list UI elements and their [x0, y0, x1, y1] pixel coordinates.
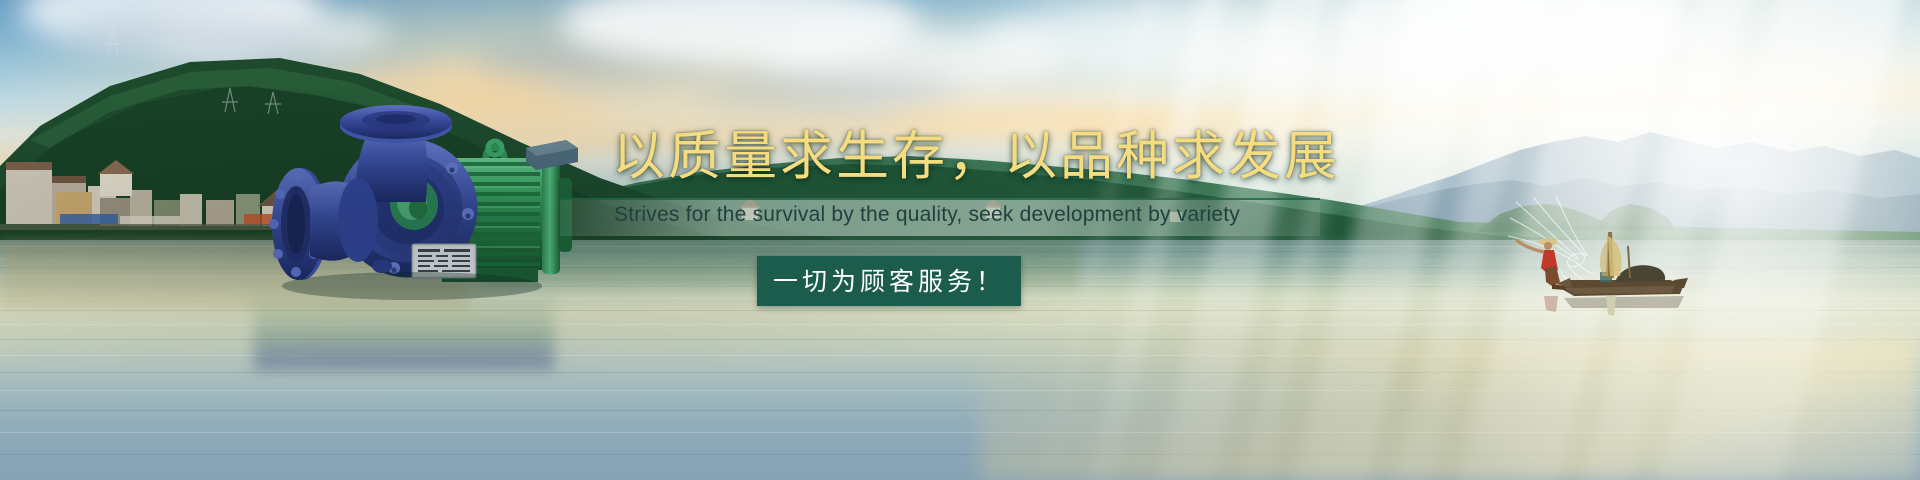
- status-badge: 一切为顾客服务！: [757, 256, 1021, 306]
- fishing-boat: [1508, 196, 1738, 316]
- centrifugal-pump: [236, 96, 596, 304]
- subtitle: Strives for the survival by the quality,…: [614, 203, 1240, 227]
- hero-banner: 以质量求生存，以品种求发展 Strives for the survival b…: [0, 0, 1920, 480]
- page-title: 以质量求生存，以品种求发展: [612, 128, 1340, 186]
